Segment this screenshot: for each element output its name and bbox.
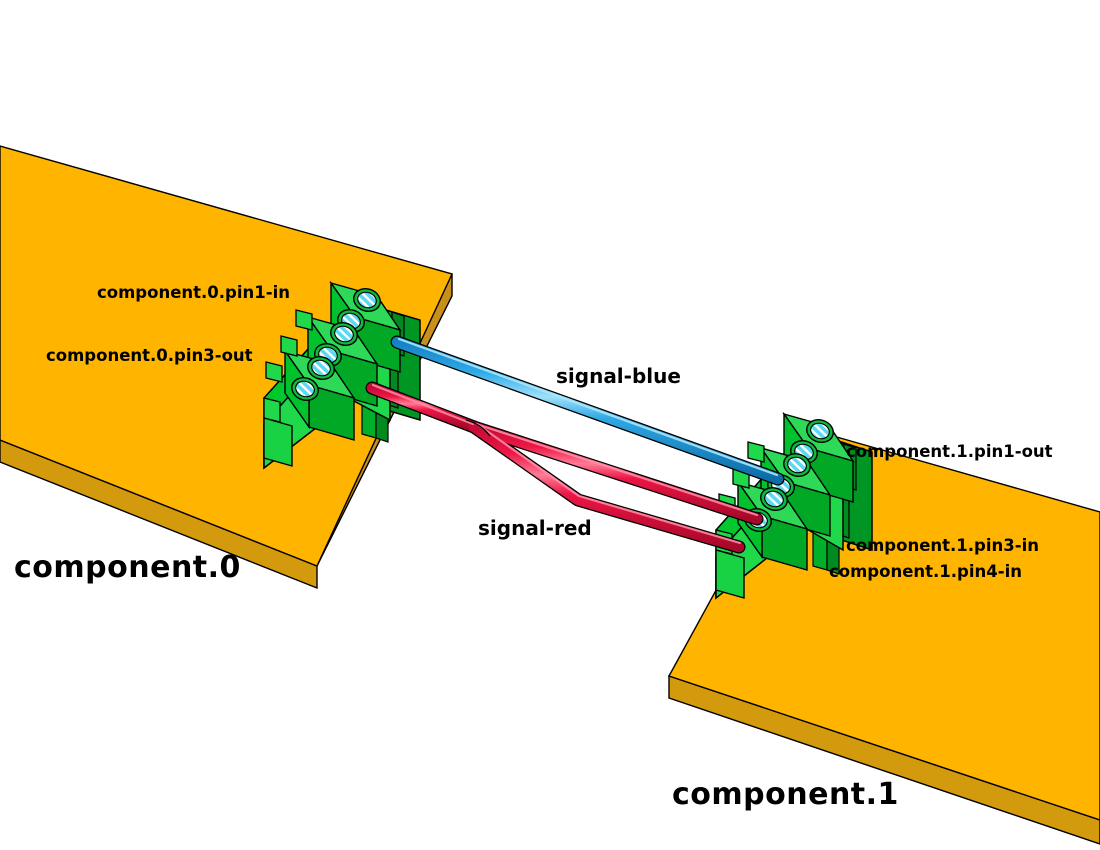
connector-0-corner-block xyxy=(264,418,292,466)
scene-svg xyxy=(0,0,1100,850)
pin-label-component-1-pin1-out: component.1.pin1-out xyxy=(846,444,1053,461)
diagram-canvas: component.0.pin1-in component.0.pin3-out… xyxy=(0,0,1100,850)
board-label-component-0: component.0 xyxy=(14,553,241,583)
signal-label-signal-blue: signal-blue xyxy=(556,366,681,386)
pin-label-component-1-pin3-in: component.1.pin3-in xyxy=(846,538,1039,555)
board-label-component-1: component.1 xyxy=(672,780,899,810)
connector-1-corner-block xyxy=(716,550,744,598)
pin-label-component-0-pin3-out: component.0.pin3-out xyxy=(46,348,253,365)
pin-label-component-0-pin1-in: component.0.pin1-in xyxy=(97,285,290,302)
signal-label-signal-red: signal-red xyxy=(478,518,592,538)
pin-label-component-1-pin4-in: component.1.pin4-in xyxy=(829,564,1022,581)
